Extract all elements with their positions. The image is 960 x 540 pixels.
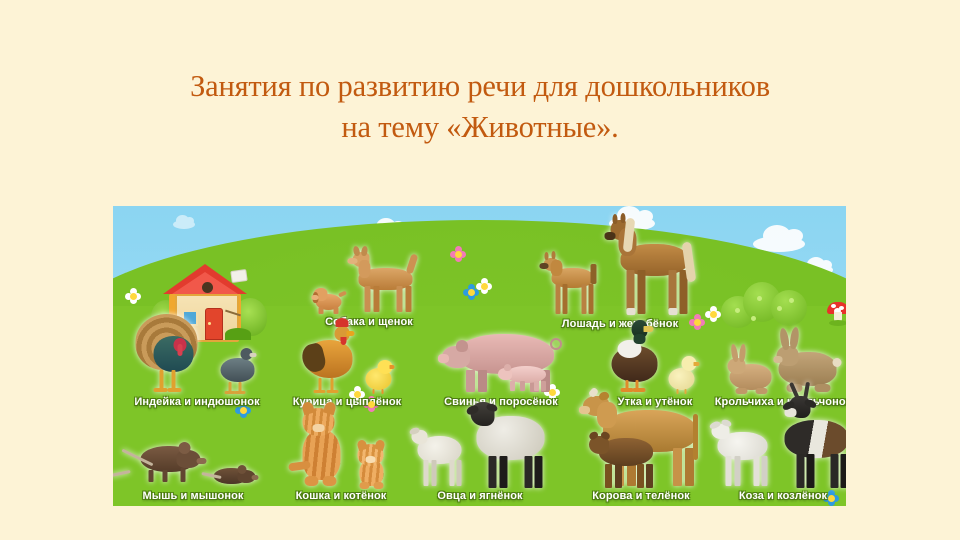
animal-caption: Индейка и индюшонок <box>134 396 259 408</box>
animal-caption: Кошка и котёнок <box>296 490 387 502</box>
horse-illustration <box>544 220 697 316</box>
animal-caption: Корова и телёнок <box>592 490 690 502</box>
animal-group-mouse[interactable]: Мышь и мышонок <box>123 414 263 502</box>
animal-group-turkey[interactable]: Индейка и индюшонок <box>123 310 271 408</box>
animal-group-horse[interactable]: Лошадь и жеребёнок <box>525 212 715 330</box>
duck-illustration <box>612 320 699 394</box>
flower-icon <box>125 288 141 304</box>
dog-illustration <box>314 252 425 314</box>
cat-illustration <box>293 404 390 488</box>
hen-illustration <box>301 322 394 394</box>
page-title: Занятия по развитию речи для дошкольнико… <box>60 66 900 147</box>
farm-animals-poster: Собака и щенок <box>113 206 846 506</box>
animal-caption: Мышь и мышонок <box>142 490 243 502</box>
mouse-illustration <box>129 438 258 488</box>
goat-illustration <box>712 392 847 488</box>
animal-group-goat[interactable]: Коза и козлёнок <box>711 384 846 502</box>
animal-caption: Овца и ягнёнок <box>437 490 522 502</box>
animal-group-cow[interactable]: Корова и телёнок <box>563 384 719 502</box>
cow-illustration <box>581 390 701 488</box>
cloud-icon <box>173 220 195 229</box>
animal-caption: Коза и козлёнок <box>739 490 827 502</box>
animal-group-dog[interactable]: Собака и щенок <box>299 230 439 328</box>
flower-icon <box>476 278 492 294</box>
turkey-illustration <box>136 314 259 394</box>
animal-group-sheep[interactable]: Овца и ягнёнок <box>405 394 555 502</box>
sheep-illustration <box>412 402 549 488</box>
pig-illustration <box>442 324 560 394</box>
animal-group-cat[interactable]: Кошка и котёнок <box>271 396 411 502</box>
animal-group-hen[interactable]: Курица и цыплёнок <box>281 318 413 408</box>
flower-icon <box>450 246 466 262</box>
